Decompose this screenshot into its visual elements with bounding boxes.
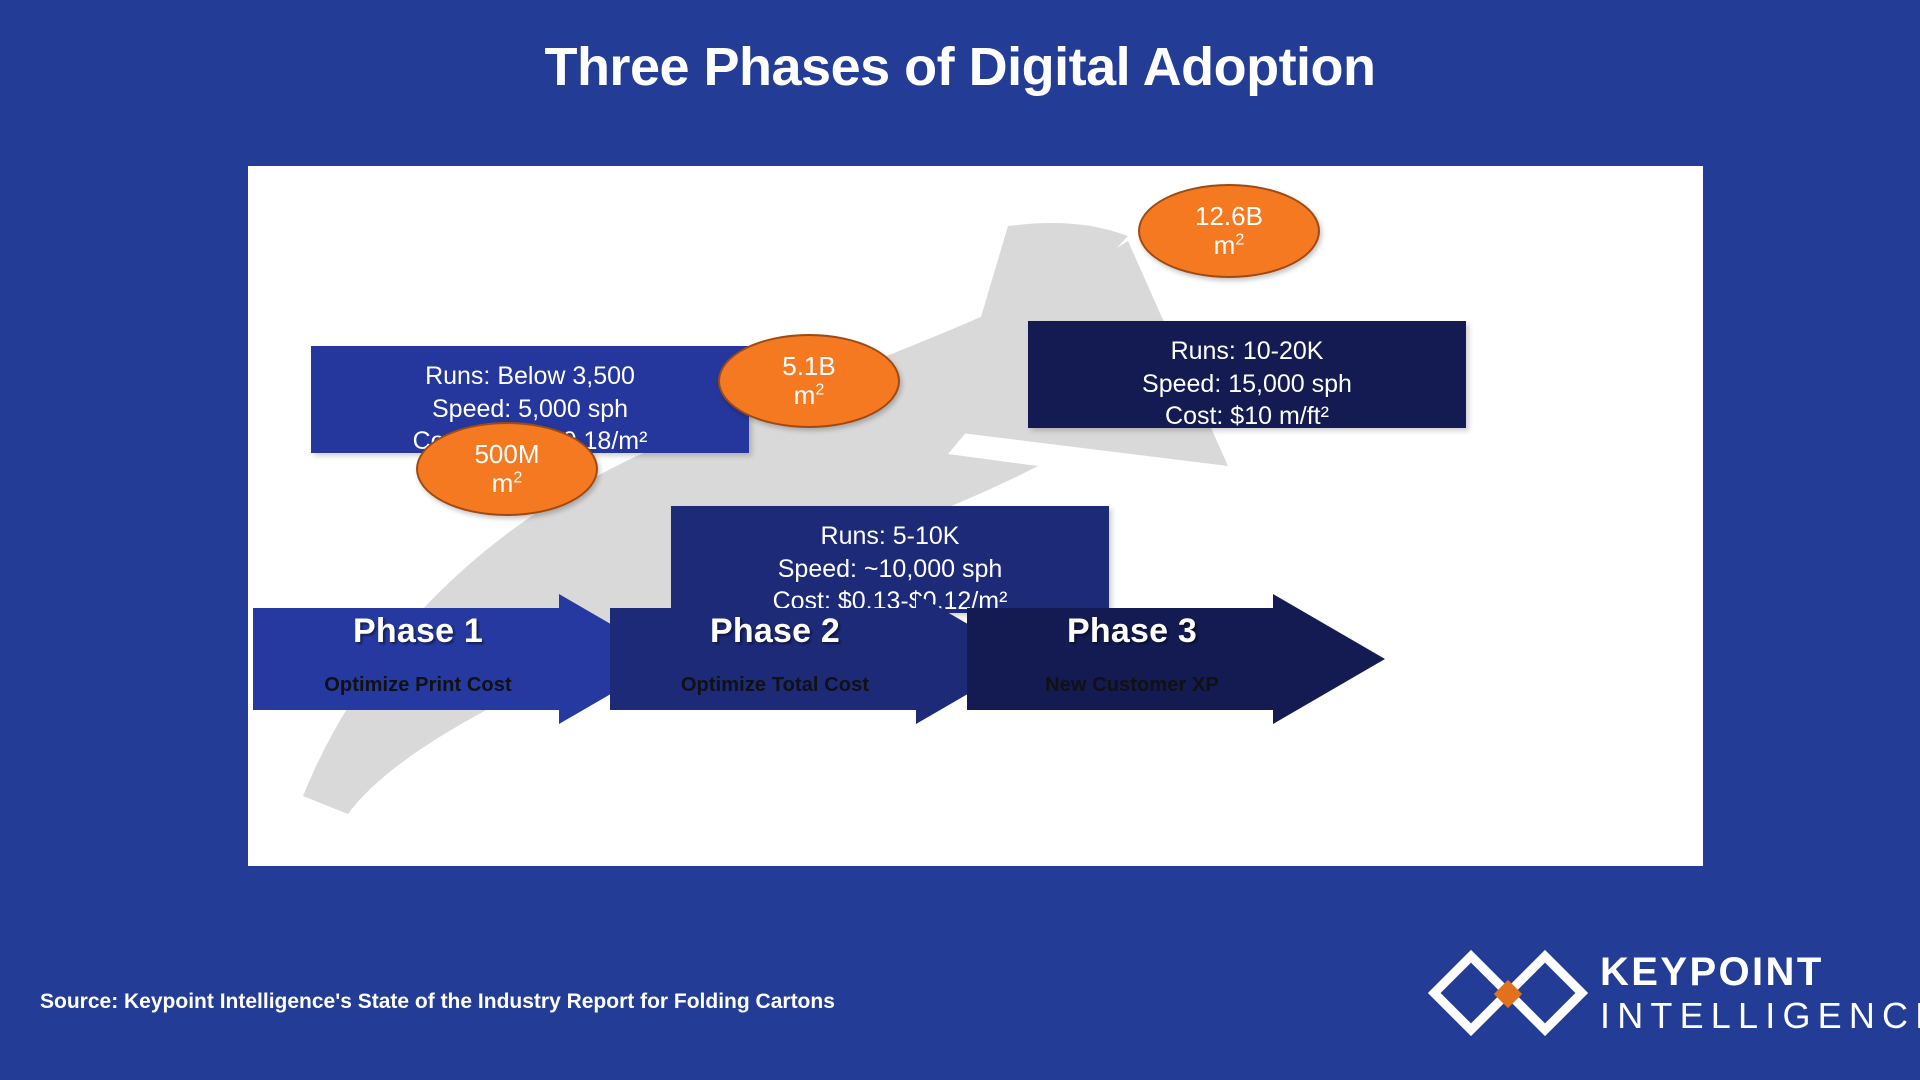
volume-bubble-3-unit: m2 — [1214, 231, 1245, 260]
phase-3-subtitle: New Customer XP — [967, 674, 1297, 697]
diagram-panel: Runs: Below 3,500 Speed: 5,000 sph Cost:… — [248, 166, 1703, 866]
logo-name: KEYPOINT — [1600, 952, 1920, 992]
logo-wordmark: KEYPOINT INTELLIGENCE — [1600, 952, 1920, 1036]
source-note: Source: Keypoint Intelligence's State of… — [40, 990, 835, 1014]
phase-3-speed: Speed: 15,000 sph — [1038, 368, 1456, 401]
phase-1-speed: Speed: 5,000 sph — [321, 393, 739, 426]
volume-bubble-2-unit: m2 — [794, 381, 825, 410]
keypoint-intelligence-logo: KEYPOINT INTELLIGENCE — [1428, 948, 1868, 1058]
volume-bubble-phase-3: 12.6B m2 — [1138, 184, 1320, 278]
info-box-phase-3: Runs: 10-20K Speed: 15,000 sph Cost: $10… — [1028, 321, 1466, 428]
phase-2-speed: Speed: ~10,000 sph — [681, 553, 1099, 586]
volume-bubble-1-value: 500M — [474, 440, 539, 469]
logo-subname: INTELLIGENCE — [1600, 995, 1920, 1036]
phase-3-cost: Cost: $10 m/ft² — [1038, 400, 1456, 433]
phase-3-runs: Runs: 10-20K — [1038, 335, 1456, 368]
phase-3-label: Phase 3 — [967, 612, 1297, 651]
volume-bubble-phase-2: 5.1B m2 — [718, 334, 900, 428]
page-title: Three Phases of Digital Adoption — [0, 36, 1920, 98]
volume-bubble-3-value: 12.6B — [1195, 202, 1263, 231]
phase-1-runs: Runs: Below 3,500 — [321, 360, 739, 393]
phase-2-label: Phase 2 — [610, 612, 940, 651]
double-diamond-logo-icon — [1428, 950, 1588, 1054]
phase-2-runs: Runs: 5-10K — [681, 520, 1099, 553]
volume-bubble-phase-1: 500M m2 — [416, 422, 598, 516]
phase-2-subtitle: Optimize Total Cost — [610, 674, 940, 697]
phase-arrow-3[interactable]: Phase 3 New Customer XP — [967, 594, 1387, 724]
phase-1-subtitle: Optimize Print Cost — [253, 674, 583, 697]
phase-1-label: Phase 1 — [253, 612, 583, 651]
volume-bubble-2-value: 5.1B — [782, 352, 836, 381]
volume-bubble-1-unit: m2 — [492, 469, 523, 498]
